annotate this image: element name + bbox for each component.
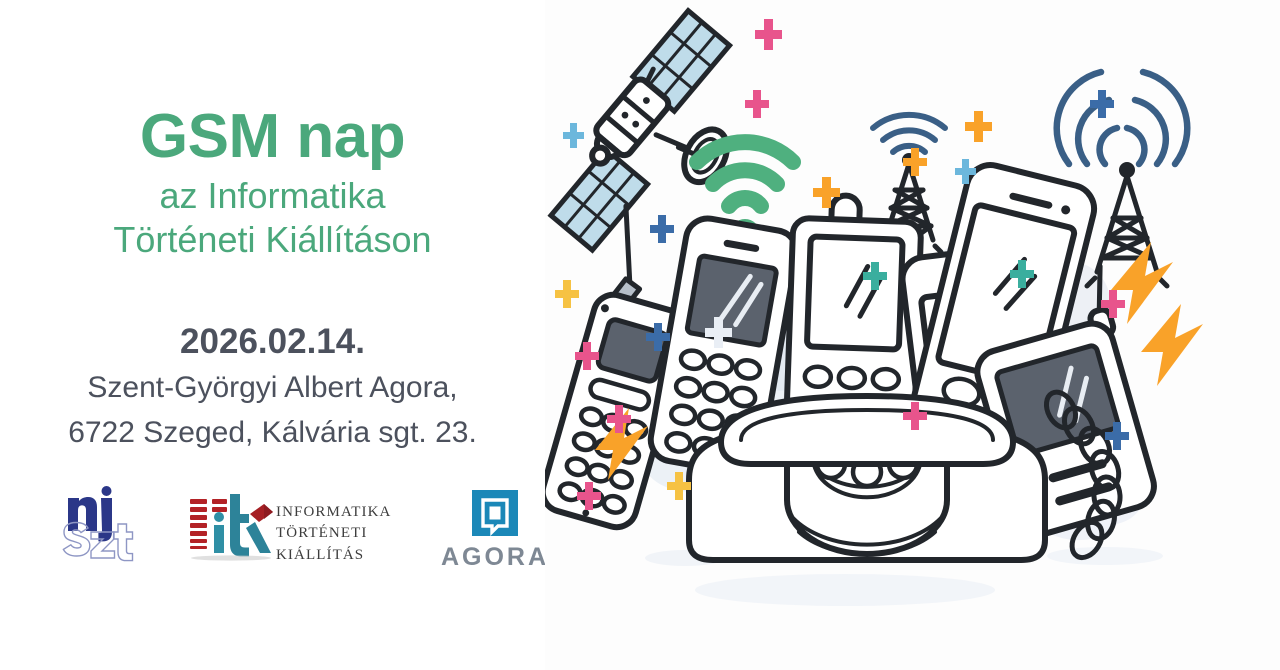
- page-title: GSM nap: [0, 105, 545, 168]
- njszt-logo-icon: [54, 486, 150, 566]
- venue-line-2: 6722 Szeged, Kálvária sgt. 23.: [0, 414, 545, 452]
- agora-speech-bubble-icon: [472, 490, 518, 536]
- itk-text-line-3: KIÁLLÍTÁS: [276, 545, 391, 566]
- agora-mark-icon: [472, 490, 518, 536]
- gsm-illustration: .ol { fill:#FFFFFF; stroke:#22262B; stro…: [545, 0, 1280, 670]
- agora-wordmark: AGORA: [430, 543, 560, 572]
- event-date: 2026.02.14.: [0, 322, 545, 362]
- itk-text-line-2: TÖRTÉNETI: [276, 523, 391, 544]
- title-block: GSM nap az Informatika Történeti Kiállít…: [0, 105, 545, 262]
- venue-line-1: Szent-Györgyi Albert Agora,: [0, 369, 545, 407]
- left-text-panel: GSM nap az Informatika Történeti Kiállít…: [0, 0, 545, 670]
- logo-njszt[interactable]: [54, 486, 150, 566]
- itk-logo-icon: [188, 488, 274, 562]
- event-info-block: 2026.02.14. Szent-Györgyi Albert Agora, …: [0, 322, 545, 451]
- rotary-phone-icon: [689, 396, 1045, 560]
- subtitle-line-1: az Informatika: [0, 174, 545, 218]
- subtitle-line-2: Történeti Kiállításon: [0, 218, 545, 262]
- illustration-panel: .ol { fill:#FFFFFF; stroke:#22262B; stro…: [545, 0, 1280, 670]
- logo-itk[interactable]: INFORMATIKA TÖRTÉNETI KIÁLLÍTÁS: [188, 488, 388, 566]
- logo-row: INFORMATIKA TÖRTÉNETI KIÁLLÍTÁS AGORA: [46, 482, 516, 582]
- poster-canvas: GSM nap az Informatika Történeti Kiállít…: [0, 0, 1280, 670]
- itk-text-line-1: INFORMATIKA: [276, 502, 391, 523]
- logo-agora[interactable]: AGORA: [430, 490, 560, 570]
- itk-logo-text: INFORMATIKA TÖRTÉNETI KIÁLLÍTÁS: [276, 502, 391, 566]
